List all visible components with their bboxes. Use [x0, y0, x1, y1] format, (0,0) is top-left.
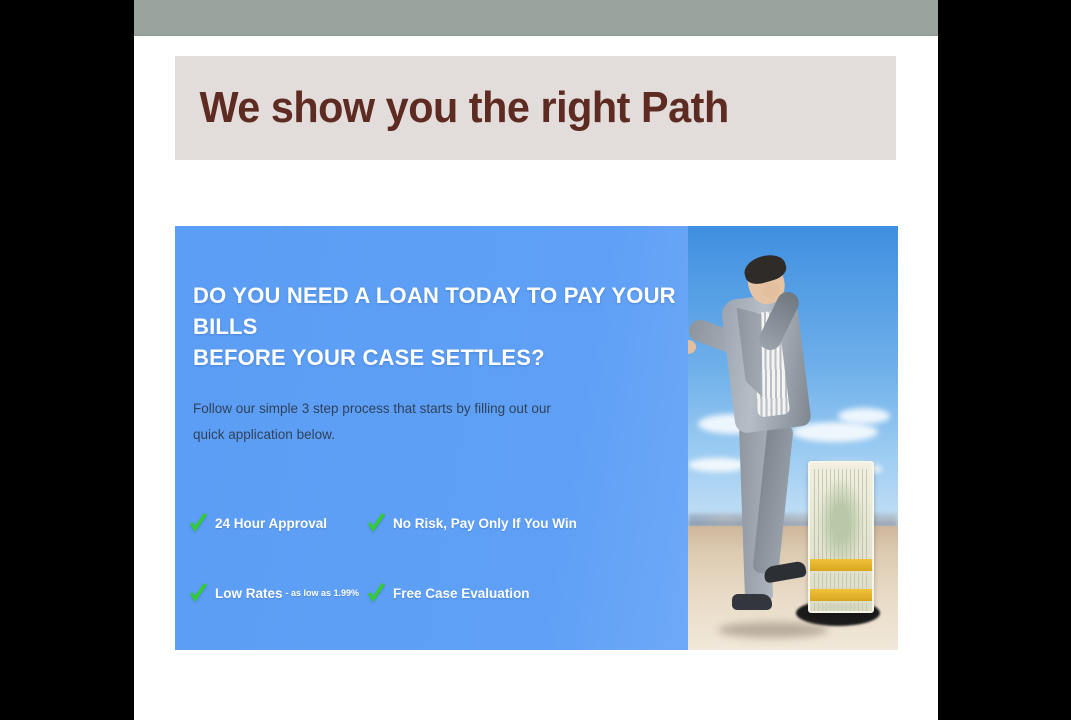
slide-page: We show you the right Path — [134, 0, 938, 720]
title-band: We show you the right Path — [175, 56, 896, 160]
checkmark-icon — [189, 583, 208, 604]
letterbox-bar-right — [938, 0, 1071, 720]
letterbox-bar-left — [0, 0, 134, 720]
checkmark-icon — [367, 583, 386, 604]
page-header-strip — [134, 0, 938, 36]
headline-line-1: DO YOU NEED A LOAN TODAY TO PAY YOUR BIL… — [193, 283, 676, 339]
banner-headline: DO YOU NEED A LOAN TODAY TO PAY YOUR BIL… — [193, 280, 693, 374]
checkmark-icon — [189, 513, 208, 534]
benefit-label: Free Case Evaluation — [393, 586, 530, 601]
page-title: We show you the right Path — [175, 83, 729, 133]
banner-benefit-list: 24 Hour Approval No Risk, Pay Only If Yo… — [189, 504, 589, 644]
headline-line-2: BEFORE YOUR CASE SETTLES? — [193, 342, 693, 373]
benefit-label: No Risk, Pay Only If You Win — [393, 516, 577, 531]
promo-banner[interactable]: DO YOU NEED A LOAN TODAY TO PAY YOUR BIL… — [175, 226, 898, 650]
benefit-label: 24 Hour Approval — [215, 516, 327, 531]
list-item: 24 Hour Approval — [189, 513, 367, 534]
hand — [762, 282, 779, 298]
businessman-figure — [702, 256, 832, 626]
list-item: Low Rates - as low as 1.99% — [189, 583, 367, 604]
list-item: Free Case Evaluation — [367, 583, 530, 604]
benefit-row: Low Rates - as low as 1.99% Free Case Ev… — [189, 574, 589, 612]
benefit-note: - as low as 1.99% — [286, 588, 360, 598]
checkmark-icon — [367, 513, 386, 534]
cloud-icon — [838, 408, 890, 424]
benefit-label: Low Rates — [215, 586, 283, 601]
banner-subcopy: Follow our simple 3 step process that st… — [193, 396, 583, 447]
list-item: No Risk, Pay Only If You Win — [367, 513, 577, 534]
video-frame: We show you the right Path — [0, 0, 1071, 720]
shoe — [732, 594, 772, 610]
banner-photo — [688, 226, 898, 650]
benefit-row: 24 Hour Approval No Risk, Pay Only If Yo… — [189, 504, 589, 542]
